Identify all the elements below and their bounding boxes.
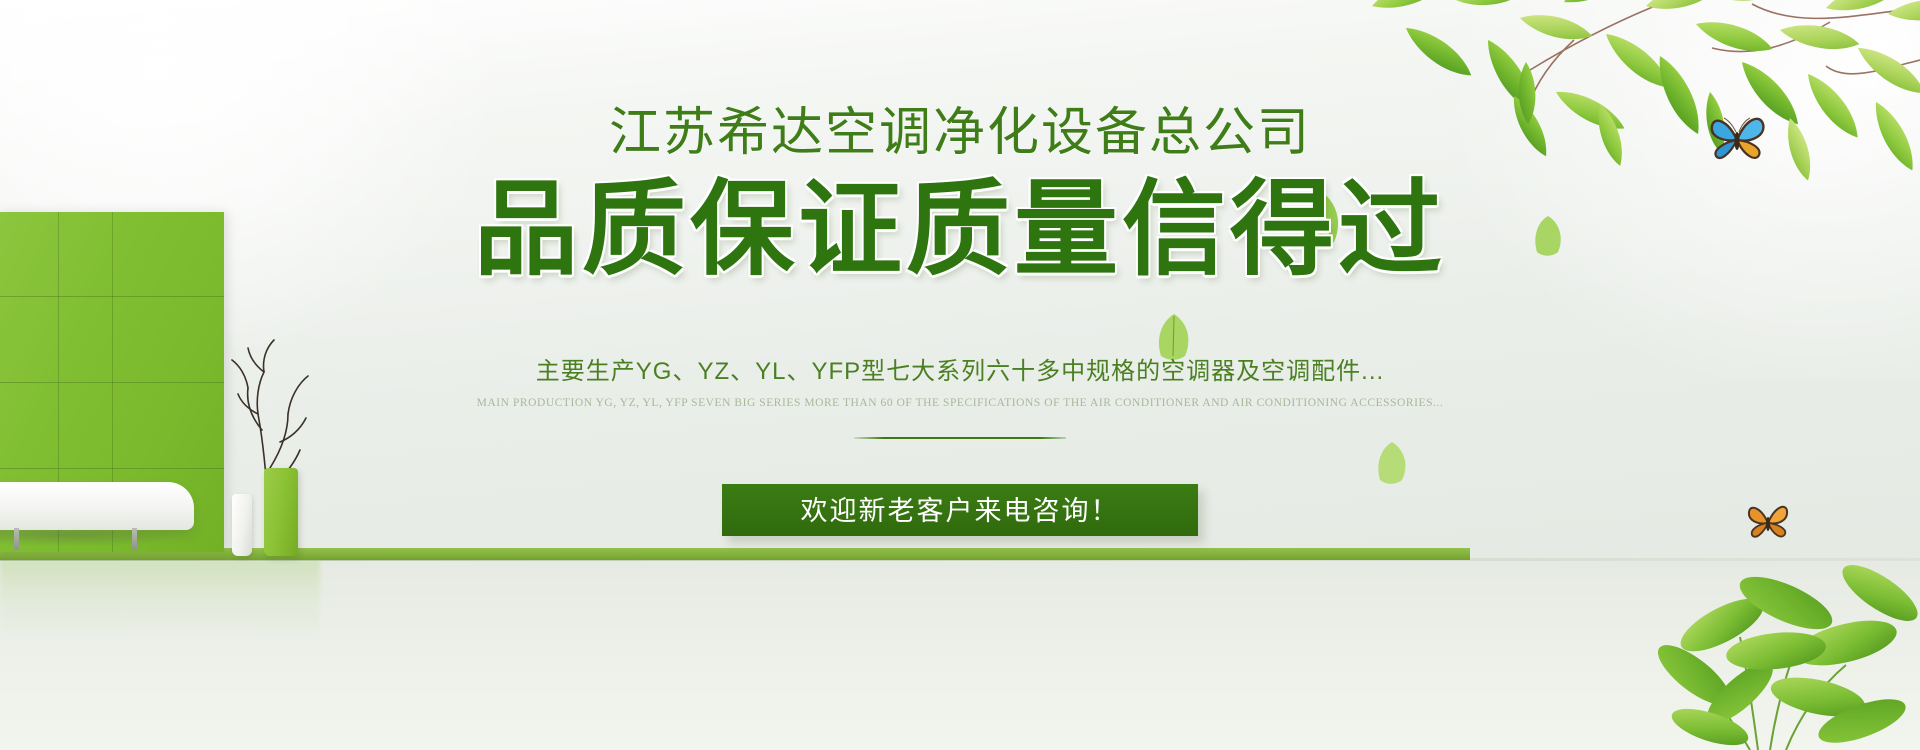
falling-leaf-icon [1155, 312, 1195, 360]
headline-slogan: 品质保证质量信得过 [310, 178, 1610, 282]
potted-plant-icon [1590, 515, 1920, 750]
floor-reflection [0, 560, 320, 640]
butterfly-blue-icon [1708, 112, 1766, 166]
company-name: 江苏希达空调净化设备总公司 [360, 107, 1560, 159]
subtitle-english: MAIN PRODUCTION YG, YZ, YL, YFP SEVEN BI… [310, 397, 1610, 411]
bench-shadow [0, 528, 188, 546]
divider-rule [854, 437, 1066, 439]
subtitle-chinese: 主要生产YG、YZ、YL、YFP型七大系列六十多中规格的空调器及空调配件... [310, 358, 1610, 387]
vase-white-icon [232, 494, 252, 556]
vase-green-icon [264, 468, 298, 556]
hero-banner: 江苏希达空调净化设备总公司 品质保证质量信得过 主要生产YG、YZ、YL、YFP… [0, 0, 1920, 750]
bench-leg [132, 528, 137, 550]
falling-leaf-icon [1375, 440, 1411, 484]
contact-cta-button[interactable]: 欢迎新老客户来电咨询！ [722, 484, 1198, 536]
bench-leg [14, 528, 19, 550]
bench-icon [0, 482, 194, 530]
